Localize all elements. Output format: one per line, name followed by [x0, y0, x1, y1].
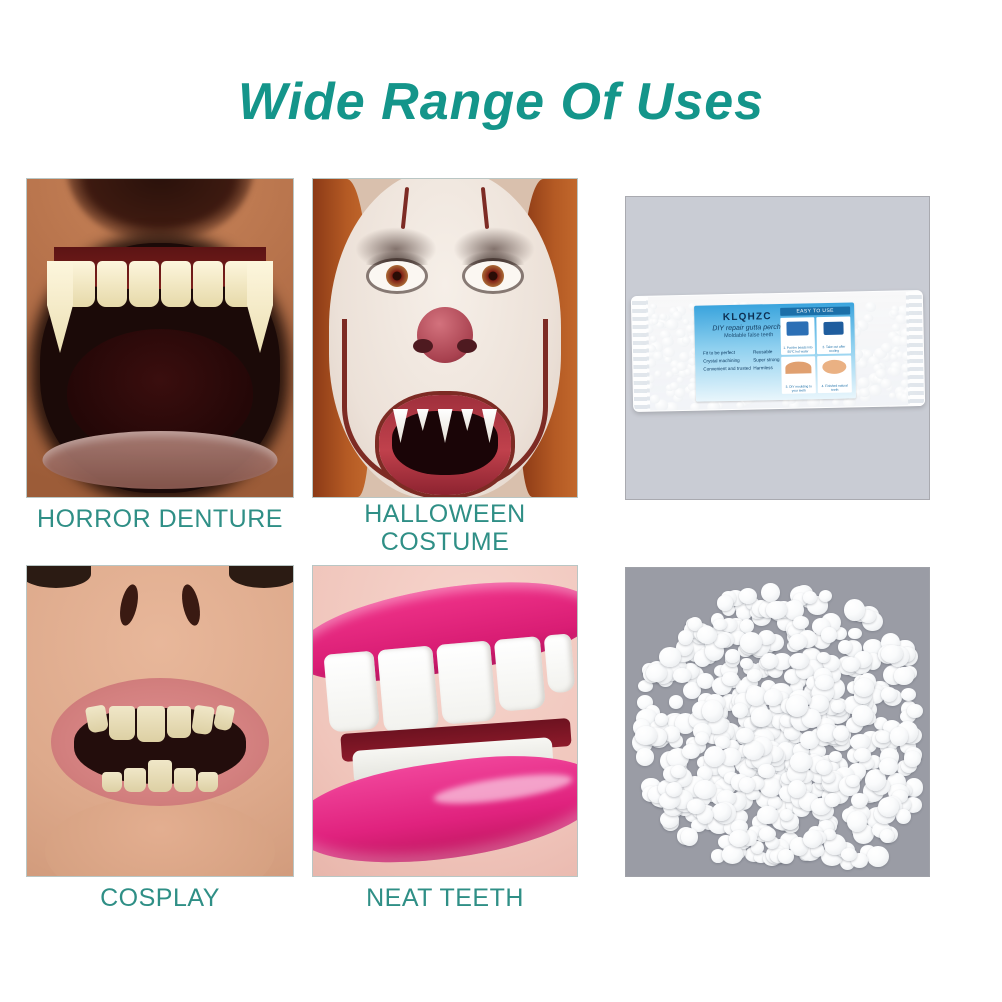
bead: [729, 830, 749, 847]
caption-neat-teeth: NEAT TEETH: [312, 884, 578, 912]
fang-icon: [438, 409, 453, 443]
bead: [764, 689, 781, 706]
bead: [681, 828, 698, 845]
brand-name: KLQHZC: [704, 311, 790, 324]
step-2: 2. Take out after cooling: [816, 316, 851, 354]
step-caption: 3. DIY moulding to your teeth: [783, 384, 815, 393]
bead: [654, 371, 661, 377]
pupil: [489, 272, 498, 281]
iris: [482, 265, 504, 287]
hot-water-cup-icon: [786, 321, 808, 335]
bead: [732, 703, 748, 718]
bead: [687, 799, 704, 814]
bead: [717, 595, 733, 610]
photo-cosplay[interactable]: [26, 565, 294, 877]
photo-horror-denture[interactable]: [26, 178, 294, 498]
bead: [890, 727, 909, 745]
instruction-steps: 1. Put the beads into 80℃ hot water 2. T…: [780, 316, 852, 393]
bead: [743, 741, 764, 760]
bead: [722, 845, 743, 863]
bead: [682, 744, 700, 760]
bead: [865, 302, 876, 312]
upper-teeth-row: [80, 706, 240, 746]
bead: [803, 591, 817, 604]
bead: [869, 385, 882, 396]
bead: [907, 704, 923, 719]
caption-line-1: HALLOWEEN: [312, 500, 578, 528]
bead: [690, 403, 700, 412]
fang-icon: [461, 409, 473, 431]
bead: [901, 688, 916, 701]
bead: [831, 700, 845, 713]
tooth: [137, 706, 165, 742]
tooth: [544, 633, 576, 693]
photo-halloween-costume[interactable]: [312, 178, 578, 498]
bead: [761, 583, 780, 602]
bead: [788, 780, 806, 798]
tooth: [148, 760, 172, 792]
bead: [739, 777, 755, 793]
iris: [386, 265, 408, 287]
bead: [842, 657, 860, 673]
bead: [854, 678, 874, 697]
bead: [713, 619, 726, 630]
step-caption: 1. Put the beads into 80℃ hot water: [782, 345, 814, 354]
check-item: Harmless: [753, 364, 779, 372]
bead: [860, 388, 870, 397]
caption-cosplay: COSPLAY: [26, 884, 294, 912]
tooth: [85, 704, 109, 733]
finished-teeth-icon: [822, 360, 846, 374]
bead: [757, 806, 777, 824]
denture-mould-icon: [785, 361, 811, 374]
lower-lip: [43, 431, 278, 489]
bead: [793, 616, 809, 630]
bag-seal-left: [632, 297, 650, 411]
bead: [662, 337, 673, 347]
upper-teeth-row: [51, 261, 269, 325]
bead: [746, 686, 767, 706]
fang-icon: [482, 409, 497, 443]
bead: [848, 628, 861, 639]
tooth: [494, 636, 547, 712]
nose: [105, 584, 215, 636]
tooth: [198, 772, 218, 792]
fang-icon: [393, 409, 408, 443]
tooth: [377, 645, 439, 734]
bead: [867, 846, 889, 867]
bead: [892, 323, 901, 331]
bead: [702, 700, 723, 721]
bead: [878, 797, 899, 817]
bead: [635, 726, 656, 745]
tooth: [109, 706, 135, 740]
bead: [766, 601, 787, 618]
nostril-right: [179, 583, 203, 627]
bead: [846, 775, 860, 787]
bead: [651, 319, 658, 325]
bead: [864, 314, 874, 323]
bead: [707, 401, 720, 412]
bead: [854, 748, 871, 762]
bead: [669, 695, 683, 708]
bag-seal-right: [906, 291, 924, 405]
tooth: [193, 261, 223, 307]
step-4: 4. Finished natural teeth: [817, 355, 852, 393]
clear-plastic-bag: KLQHZC DIY repair gutta percha Moldable …: [631, 290, 925, 412]
tooth: [102, 772, 122, 792]
tooth: [436, 640, 496, 724]
bead: [694, 780, 716, 799]
bead: [857, 377, 869, 388]
step-3: 3. DIY moulding to your teeth: [781, 356, 816, 394]
bead: [695, 732, 709, 745]
bead: [881, 645, 903, 663]
tooth: [191, 705, 215, 736]
bead: [778, 849, 794, 864]
bead: [725, 649, 740, 663]
bead: [790, 752, 811, 771]
bead: [712, 803, 731, 820]
tooth: [161, 261, 191, 307]
bead: [880, 379, 891, 389]
bead: [665, 319, 678, 330]
sealed-bag: KLQHZC DIY repair gutta percha Moldable …: [631, 290, 925, 412]
bead: [663, 347, 675, 358]
bead: [736, 728, 754, 743]
caption-halloween-costume: HALLOWEEN COSTUME: [312, 500, 578, 556]
caption-line-2: COSTUME: [312, 528, 578, 556]
bead: [876, 731, 890, 743]
bead: [758, 764, 774, 779]
bead: [740, 632, 762, 653]
photo-neat-teeth[interactable]: [312, 565, 578, 877]
bead: [655, 713, 668, 726]
feature-list: Fit to be perfect Crystal machining Conv…: [703, 349, 751, 373]
bead: [671, 765, 686, 778]
bead: [889, 366, 900, 376]
bead: [722, 672, 739, 686]
page-title: Wide Range Of Uses: [0, 72, 1002, 132]
loose-beads-photo[interactable]: [625, 567, 930, 877]
tooth: [124, 768, 146, 792]
step-caption: 2. Take out after cooling: [818, 344, 850, 353]
bead: [904, 751, 921, 767]
bead: [819, 590, 832, 602]
bead: [889, 393, 896, 399]
bead: [825, 793, 840, 807]
bead: [636, 748, 654, 765]
bead-pile: [626, 568, 929, 876]
tooth: [167, 706, 191, 738]
easy-to-use-header: EASY TO USE: [780, 306, 850, 315]
tooth: [323, 651, 380, 733]
feature-item: Convenient and trusted: [703, 364, 751, 373]
bead: [697, 626, 717, 644]
tooth: [129, 261, 159, 307]
bead: [789, 634, 807, 650]
bead: [832, 398, 841, 406]
nostril-left: [117, 583, 141, 627]
step-caption: 4. Finished natural teeth: [819, 383, 851, 392]
tooth: [213, 704, 236, 731]
fang-teeth-row: [393, 409, 497, 449]
product-package-photo[interactable]: KLQHZC DIY repair gutta percha Moldable …: [625, 196, 930, 500]
caption-horror-denture: HORROR DENTURE: [26, 505, 294, 533]
fang-icon: [417, 409, 429, 431]
bead: [847, 811, 868, 832]
tooth: [174, 768, 196, 792]
tooth: [97, 261, 127, 307]
lower-teeth-row: [85, 756, 235, 792]
step-1: 1. Put the beads into 80℃ hot water: [780, 317, 815, 355]
pupil: [393, 272, 402, 281]
bead: [747, 669, 762, 682]
bead: [821, 627, 837, 643]
eye-right: [465, 261, 521, 291]
bead: [844, 599, 865, 621]
bead: [786, 695, 807, 717]
bead: [803, 830, 822, 848]
checkmark-list: Reusable Super strong Harmless: [753, 348, 780, 372]
bead: [858, 360, 867, 368]
package-label: KLQHZC DIY repair gutta percha Moldable …: [694, 302, 856, 401]
check-item: Super strong: [753, 356, 779, 364]
bead: [646, 664, 667, 682]
eye-left: [369, 261, 425, 291]
spoon-cup-icon: [823, 322, 843, 335]
bead: [894, 667, 913, 684]
bead: [841, 848, 856, 861]
